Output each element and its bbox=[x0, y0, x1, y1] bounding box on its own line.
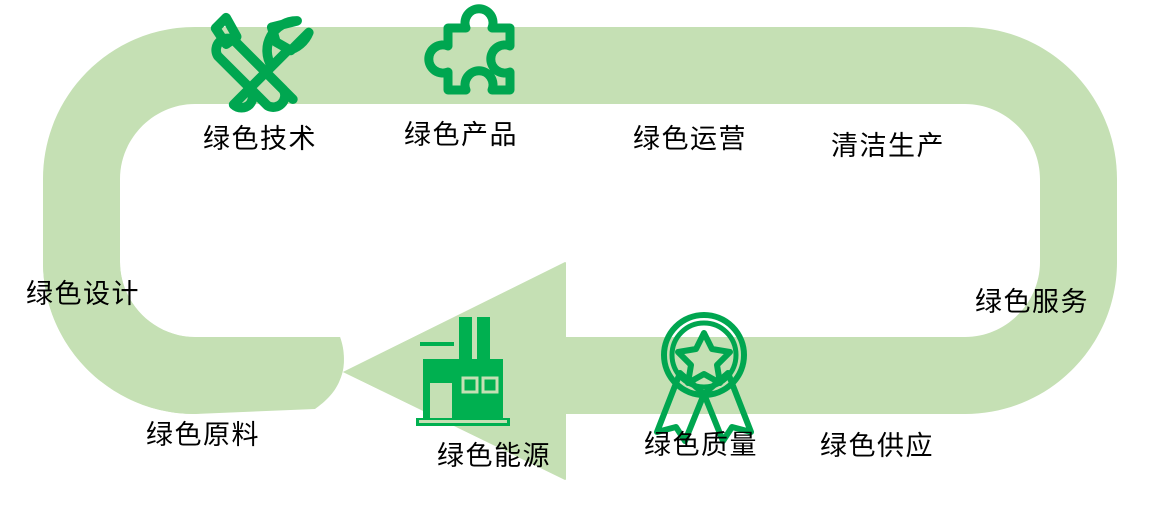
label-green-service: 绿色服务 bbox=[975, 289, 1089, 316]
label-green-material: 绿色原料 bbox=[146, 422, 260, 449]
label-green-product: 绿色产品 bbox=[404, 122, 518, 149]
label-clean-production: 清洁生产 bbox=[831, 133, 945, 160]
label-green-quality: 绿色质量 bbox=[644, 432, 758, 459]
label-green-design: 绿色设计 bbox=[26, 281, 140, 308]
label-green-energy: 绿色能源 bbox=[437, 443, 551, 470]
label-green-supply: 绿色供应 bbox=[820, 433, 934, 460]
label-green-technology: 绿色技术 bbox=[203, 126, 317, 153]
arrow-band-group bbox=[43, 27, 1117, 480]
diagram-canvas: 绿色设计 绿色技术 绿色产品 绿色运营 清洁生产 绿色服务 绿色供应 绿色质量 … bbox=[0, 0, 1159, 515]
label-green-operation: 绿色运营 bbox=[633, 126, 747, 153]
